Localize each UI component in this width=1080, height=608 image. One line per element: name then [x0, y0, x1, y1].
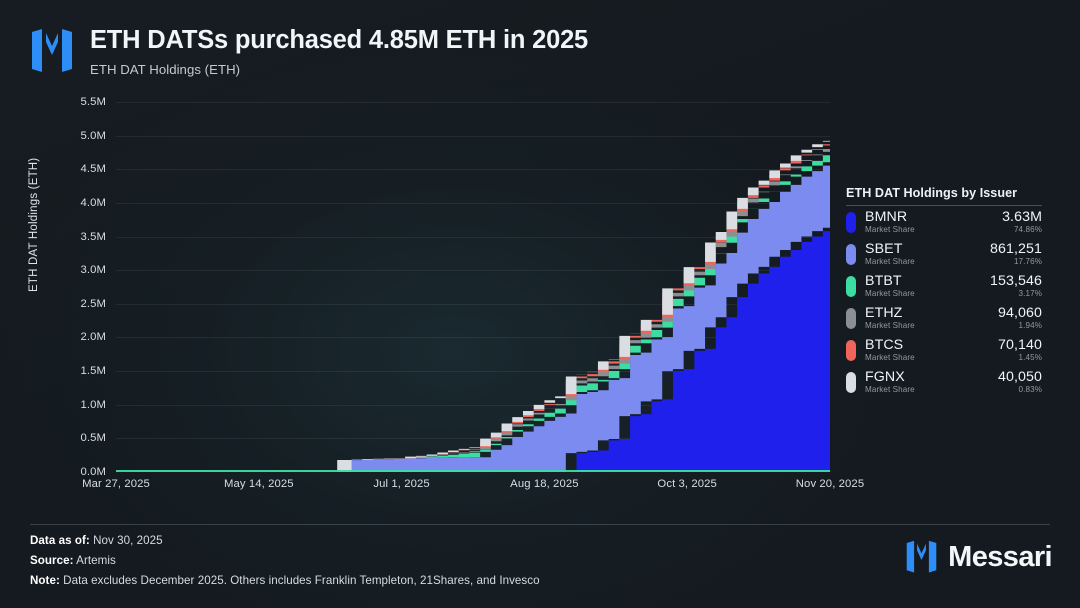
- brand-logo: Messari: [905, 540, 1052, 574]
- y-tick-label: 2.0M: [46, 331, 106, 343]
- legend-item-sbet[interactable]: SBETMarket Share861,25117.76%: [846, 238, 1042, 270]
- legend-color-swatch: [846, 308, 856, 329]
- legend-holdings-value: 153,546: [990, 274, 1042, 288]
- legend-market-share-pct: 1.45%: [998, 353, 1042, 362]
- x-tick-label: May 14, 2025: [224, 478, 294, 490]
- legend-color-swatch: [846, 244, 856, 265]
- y-tick-label: 0.5M: [46, 432, 106, 444]
- y-axis-ticks: 0.0M0.5M1.0M1.5M2.0M2.5M3.0M3.5M4.0M4.5M…: [46, 92, 106, 482]
- legend-market-share-label: Market Share: [865, 257, 990, 266]
- legend-issuer-name: BMNR: [865, 210, 1002, 224]
- y-tick-label: 4.0M: [46, 197, 106, 209]
- legend-issuer-name: ETHZ: [865, 306, 998, 320]
- x-axis-ticks: Mar 27, 2025May 14, 2025Jul 1, 2025Aug 1…: [116, 478, 830, 502]
- x-tick-label: Aug 18, 2025: [510, 478, 578, 490]
- footer-data-as-of-value: Nov 30, 2025: [93, 534, 163, 547]
- plot-area: [116, 102, 830, 472]
- legend-market-share-pct: 1.94%: [998, 321, 1042, 330]
- footer-data-as-of-label: Data as of:: [30, 534, 90, 547]
- y-tick-label: 3.0M: [46, 264, 106, 276]
- legend-holdings-value: 40,050: [998, 370, 1042, 384]
- stacked-area-series: [116, 102, 830, 472]
- chart-page: ETH DATSs purchased 4.85M ETH in 2025 ET…: [0, 0, 1080, 608]
- y-tick-label: 5.0M: [46, 130, 106, 142]
- legend-item-bmnr[interactable]: BMNRMarket Share3.63M74.86%: [846, 206, 1042, 238]
- messari-m-logo-icon: [30, 28, 74, 74]
- footer-note-value: Data excludes December 2025. Others incl…: [63, 574, 539, 587]
- legend-item-btbt[interactable]: BTBTMarket Share153,5463.17%: [846, 270, 1042, 302]
- footer-source: Source: Artemis: [30, 554, 730, 567]
- legend-panel: ETH DAT Holdings by Issuer BMNRMarket Sh…: [846, 186, 1042, 398]
- y-tick-label: 5.5M: [46, 96, 106, 108]
- footer: Data as of: Nov 30, 2025 Source: Artemis…: [30, 534, 730, 594]
- legend-issuer-name: SBET: [865, 242, 990, 256]
- messari-m-logo-icon: [905, 540, 938, 574]
- legend-item-ethz[interactable]: ETHZMarket Share94,0601.94%: [846, 302, 1042, 334]
- legend-market-share-pct: 17.76%: [990, 257, 1042, 266]
- footer-note: Note: Data excludes December 2025. Other…: [30, 574, 730, 587]
- chart-header: ETH DATSs purchased 4.85M ETH in 2025 ET…: [30, 26, 588, 77]
- y-axis-label: ETH DAT Holdings (ETH): [28, 158, 40, 292]
- footer-source-value: Artemis: [76, 554, 116, 567]
- legend-market-share-pct: 0.83%: [998, 385, 1042, 394]
- legend-issuer-name: FGNX: [865, 370, 998, 384]
- footer-note-label: Note:: [30, 574, 60, 587]
- legend-market-share-label: Market Share: [865, 385, 998, 394]
- page-subtitle: ETH DAT Holdings (ETH): [90, 62, 588, 77]
- legend-market-share-label: Market Share: [865, 321, 998, 330]
- y-tick-label: 1.0M: [46, 399, 106, 411]
- zero-baseline: [116, 470, 830, 472]
- y-tick-label: 3.5M: [46, 231, 106, 243]
- legend-item-btcs[interactable]: BTCSMarket Share70,1401.45%: [846, 334, 1042, 366]
- x-tick-label: Oct 3, 2025: [657, 478, 717, 490]
- legend-holdings-value: 3.63M: [1002, 210, 1042, 224]
- footer-data-as-of: Data as of: Nov 30, 2025: [30, 534, 730, 547]
- legend-color-swatch: [846, 340, 856, 361]
- page-title: ETH DATSs purchased 4.85M ETH in 2025: [90, 27, 588, 55]
- legend-market-share-label: Market Share: [865, 289, 990, 298]
- y-tick-label: 1.5M: [46, 365, 106, 377]
- legend-color-swatch: [846, 212, 856, 233]
- footer-divider: [30, 524, 1050, 525]
- legend-market-share-label: Market Share: [865, 353, 998, 362]
- legend-market-share-label: Market Share: [865, 225, 1002, 234]
- y-tick-label: 0.0M: [46, 466, 106, 478]
- legend-color-swatch: [846, 372, 856, 393]
- legend-issuer-name: BTCS: [865, 338, 998, 352]
- legend-holdings-value: 70,140: [998, 338, 1042, 352]
- x-tick-label: Nov 20, 2025: [796, 478, 864, 490]
- footer-source-label: Source:: [30, 554, 74, 567]
- x-tick-label: Mar 27, 2025: [82, 478, 150, 490]
- legend-holdings-value: 861,251: [990, 242, 1042, 256]
- y-tick-label: 2.5M: [46, 298, 106, 310]
- legend-market-share-pct: 74.86%: [1002, 225, 1042, 234]
- legend-item-fgnx[interactable]: FGNXMarket Share40,0500.83%: [846, 366, 1042, 398]
- x-tick-label: Jul 1, 2025: [373, 478, 429, 490]
- legend-holdings-value: 94,060: [998, 306, 1042, 320]
- legend-issuer-name: BTBT: [865, 274, 990, 288]
- legend-rows: BMNRMarket Share3.63M74.86%SBETMarket Sh…: [846, 206, 1042, 398]
- legend-color-swatch: [846, 276, 856, 297]
- legend-market-share-pct: 3.17%: [990, 289, 1042, 298]
- brand-name: Messari: [948, 541, 1052, 574]
- legend-title: ETH DAT Holdings by Issuer: [846, 186, 1042, 206]
- y-tick-label: 4.5M: [46, 163, 106, 175]
